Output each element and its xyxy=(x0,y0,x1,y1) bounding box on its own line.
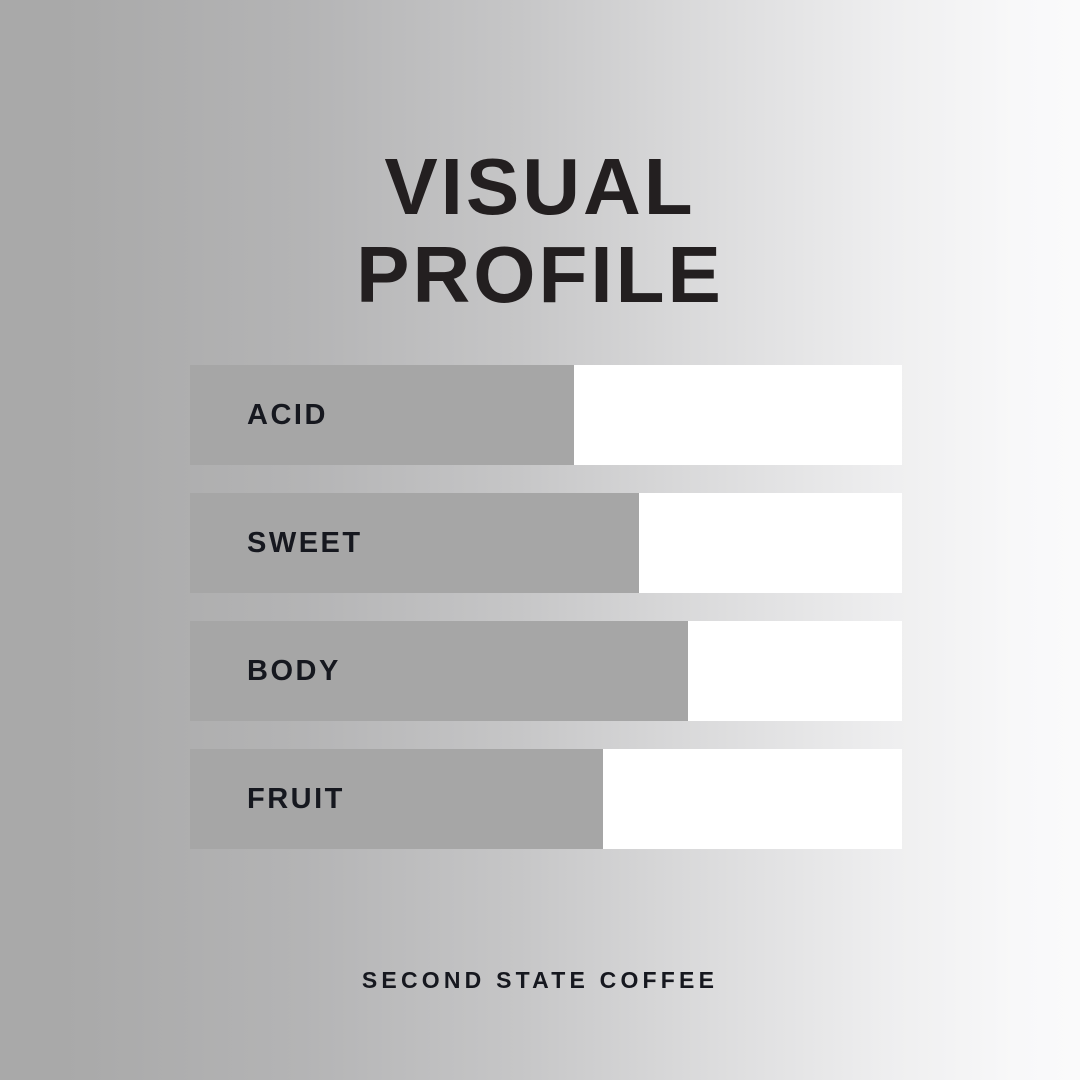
flavor-bar-chart: ACID SWEET BODY FRUIT xyxy=(190,365,902,849)
brand-footer: SECOND STATE COFFEE xyxy=(0,967,1080,994)
visual-profile-poster: VISUAL PROFILE ACID SWEET BODY FRUIT SEC… xyxy=(0,0,1080,1080)
title-line-profile: PROFILE xyxy=(0,240,1080,310)
bar-label-body: BODY xyxy=(247,621,341,721)
bar-label-acid: ACID xyxy=(247,365,328,465)
bar-label-sweet: SWEET xyxy=(247,493,363,593)
title-line-visual: VISUAL xyxy=(0,152,1080,222)
page-title: VISUAL PROFILE xyxy=(0,152,1080,310)
bar-row-fruit: FRUIT xyxy=(190,749,902,849)
brand-name: SECOND STATE COFFEE xyxy=(362,967,718,993)
bar-row-acid: ACID xyxy=(190,365,902,465)
bar-label-fruit: FRUIT xyxy=(247,749,345,849)
bar-row-body: BODY xyxy=(190,621,902,721)
bar-row-sweet: SWEET xyxy=(190,493,902,593)
